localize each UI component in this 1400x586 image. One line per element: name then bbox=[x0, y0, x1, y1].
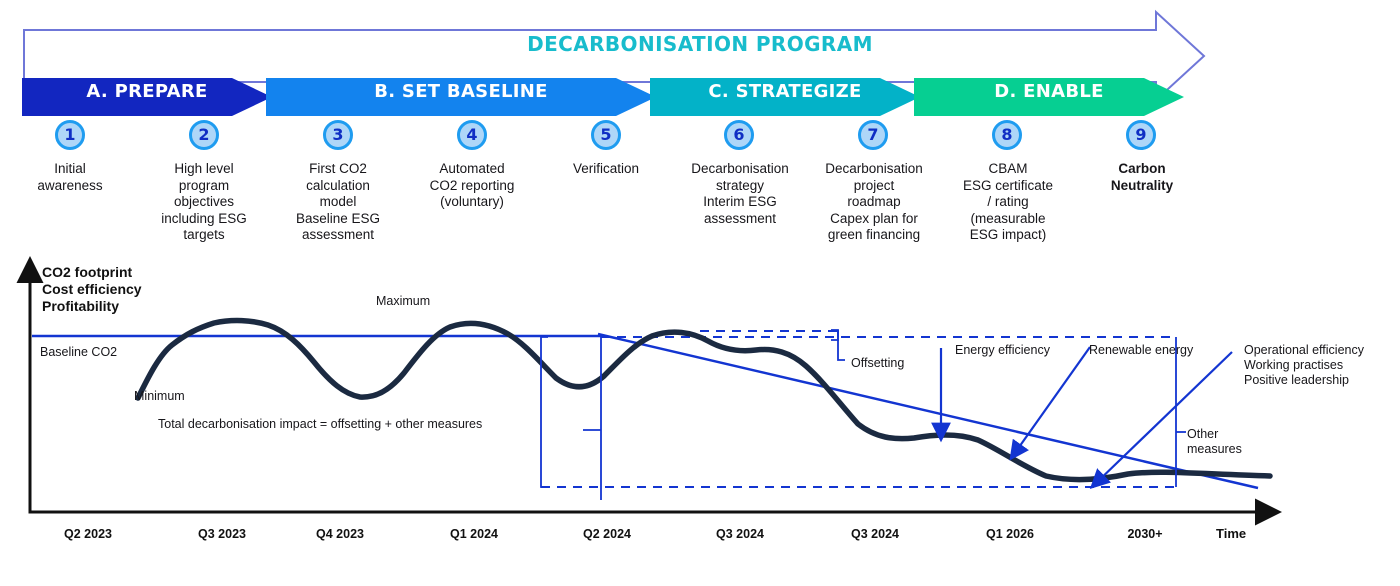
offsetting-label: Offsetting bbox=[851, 356, 904, 371]
chart-svg bbox=[0, 0, 1400, 586]
x-tick-5: Q3 2024 bbox=[685, 527, 795, 541]
other-measures-label: Other measures bbox=[1187, 427, 1242, 457]
x-tick-1: Q3 2023 bbox=[167, 527, 277, 541]
operational-efficiency-label: Operational efficiency Working practises… bbox=[1244, 343, 1364, 388]
offsetting-bracket bbox=[838, 331, 845, 360]
x-tick-7: Q1 2026 bbox=[955, 527, 1065, 541]
x-tick-4: Q2 2024 bbox=[552, 527, 662, 541]
minimum-label: Minimum bbox=[134, 389, 185, 404]
x-tick-3: Q1 2024 bbox=[419, 527, 529, 541]
total-impact-bracket bbox=[541, 337, 548, 487]
total-impact-label: Total decarbonisation impact = offsettin… bbox=[158, 417, 482, 432]
chart-y-axis-title: CO2 footprint Cost efficiency Profitabil… bbox=[42, 264, 142, 315]
x-axis-title: Time bbox=[1216, 526, 1246, 541]
x-tick-0: Q2 2023 bbox=[33, 527, 143, 541]
x-tick-8: 2030+ bbox=[1090, 527, 1200, 541]
x-tick-2: Q4 2023 bbox=[285, 527, 395, 541]
energy-efficiency-label: Energy efficiency bbox=[955, 343, 1050, 358]
baseline-label: Baseline CO2 bbox=[40, 345, 117, 360]
diagram-canvas: DECARBONISATION PROGRAM A. PREPARE B. SE… bbox=[0, 0, 1400, 586]
maximum-label: Maximum bbox=[376, 294, 430, 309]
renewable-energy-label: Renewable energy bbox=[1089, 343, 1193, 358]
chart-axes bbox=[30, 270, 1270, 512]
x-tick-6: Q3 2024 bbox=[820, 527, 930, 541]
